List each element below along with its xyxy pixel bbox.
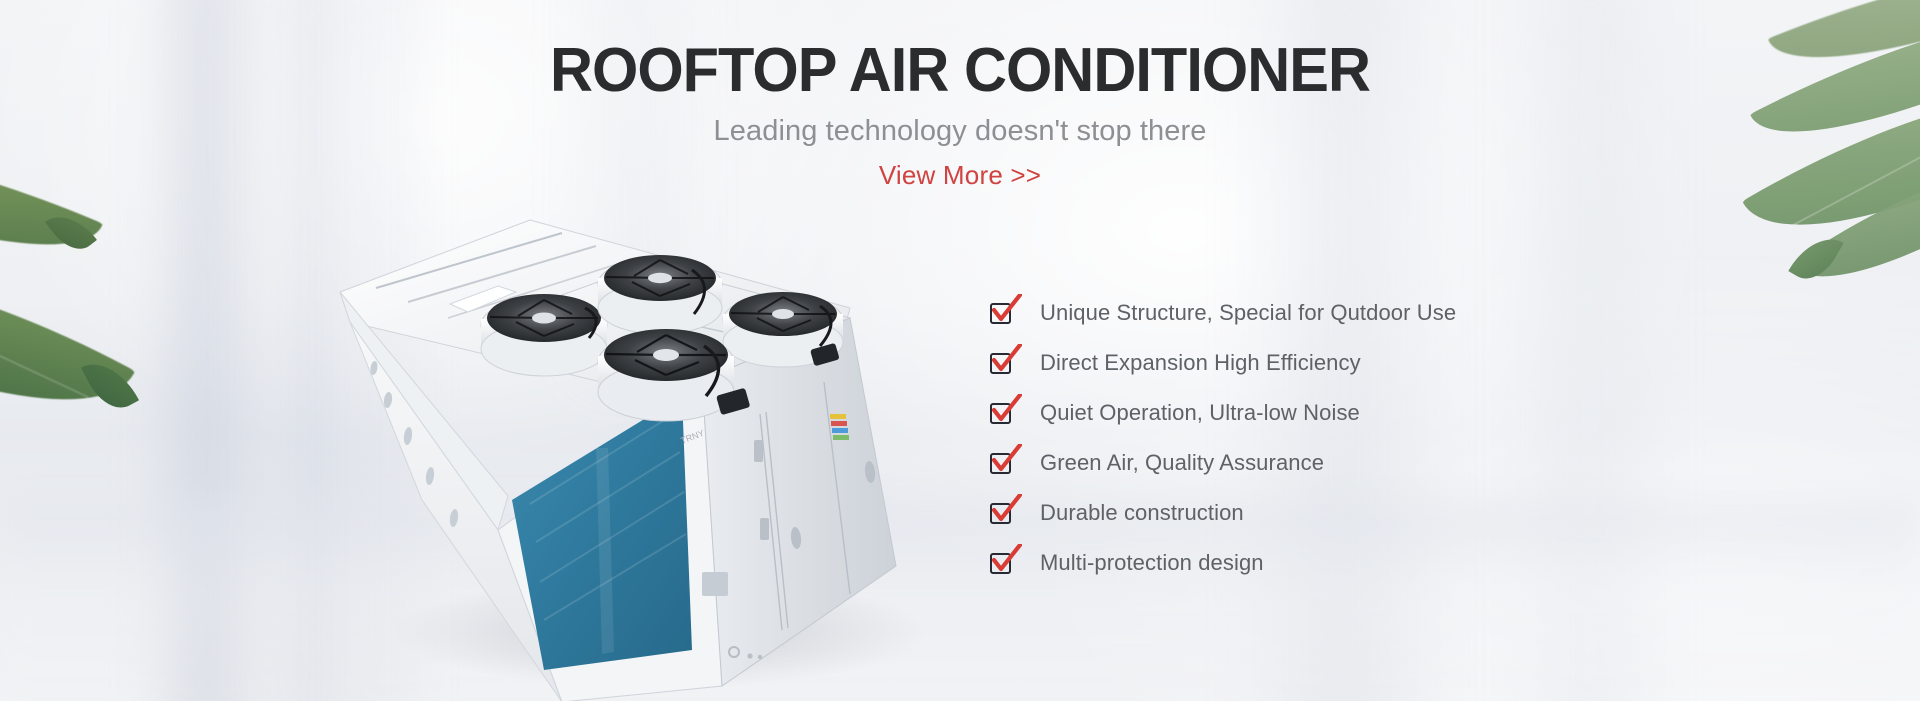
view-more-link[interactable]: View More >> [879, 160, 1041, 191]
checkbox-checked-icon [990, 351, 1014, 375]
page-title: ROOFTOP AIR CONDITIONER [38, 38, 1881, 103]
page-subtitle: Leading technology doesn't stop there [0, 115, 1920, 148]
checkbox-checked-icon [990, 301, 1014, 325]
list-item: Durable construction [990, 488, 1550, 538]
checkbox-checked-icon [990, 551, 1014, 575]
checkbox-checked-icon [990, 401, 1014, 425]
feature-label: Durable construction [1040, 500, 1244, 526]
promo-banner: TRNY [0, 0, 1920, 701]
checkbox-checked-icon [990, 451, 1014, 475]
feature-label: Multi-protection design [1040, 550, 1264, 576]
list-item: Multi-protection design [990, 538, 1550, 588]
rooftop-air-conditioner-unit: TRNY [330, 200, 970, 700]
feature-list: Unique Structure, Special for Qutdoor Us… [990, 288, 1550, 588]
list-item: Direct Expansion High Efficiency [990, 338, 1550, 388]
feature-label: Quiet Operation, Ultra-low Noise [1040, 400, 1360, 426]
feature-label: Green Air, Quality Assurance [1040, 450, 1324, 476]
checkbox-checked-icon [990, 501, 1014, 525]
headline-block: ROOFTOP AIR CONDITIONER Leading technolo… [0, 38, 1920, 191]
feature-label: Unique Structure, Special for Qutdoor Us… [1040, 300, 1456, 326]
list-item: Quiet Operation, Ultra-low Noise [990, 388, 1550, 438]
list-item: Unique Structure, Special for Qutdoor Us… [990, 288, 1550, 338]
list-item: Green Air, Quality Assurance [990, 438, 1550, 488]
feature-label: Direct Expansion High Efficiency [1040, 350, 1361, 376]
